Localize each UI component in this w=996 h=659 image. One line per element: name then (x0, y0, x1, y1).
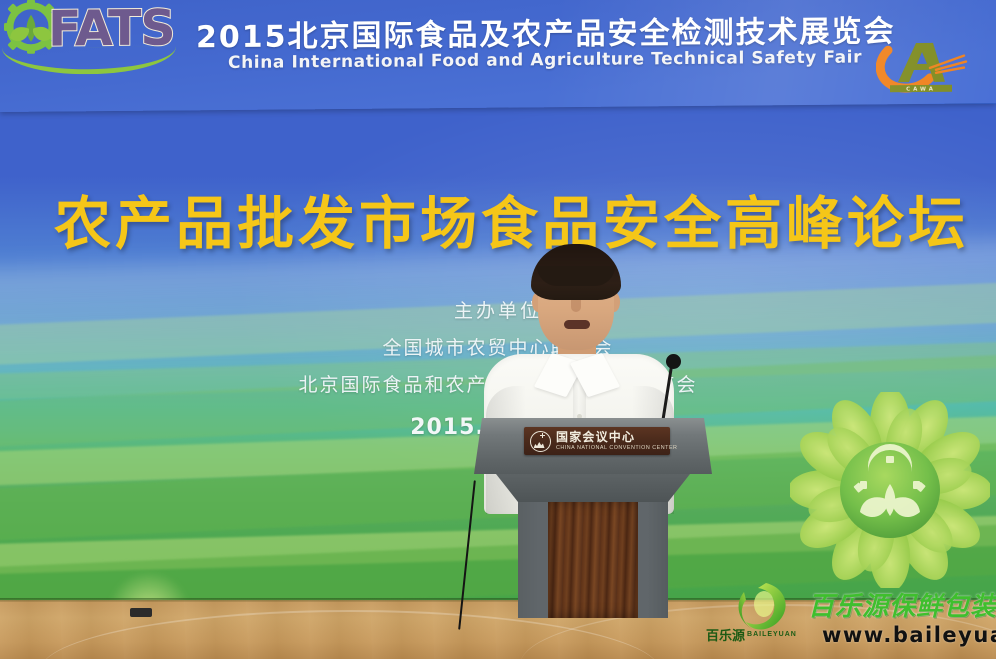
speaker-hair (531, 244, 621, 300)
header-title-cn: 2015北京国际食品及农产品安全检测技术展览会 (196, 6, 896, 56)
photo-scene: 农产品批发市场食品安全高峰论坛 主办单位 全国城市农贸中心联合会 北京国际食品和… (0, 0, 996, 659)
speaker-mouth (564, 320, 590, 329)
podium-neck (496, 474, 690, 502)
gear-leaf-icon (2, 0, 60, 58)
header-title-en: China International Food and Agriculture… (228, 47, 862, 73)
svg-text:CAWA: CAWA (906, 86, 936, 92)
watermark-url: www.baileyuan.cn (822, 623, 996, 647)
cawa-logo: CAWA (876, 33, 982, 100)
fats-logo-text: FATS (48, 0, 175, 57)
watermark-brand-cn: 百乐源保鲜包装 (808, 586, 996, 623)
podium: 国家会议中心 CHINA NATIONAL CONVENTION CENTER (474, 418, 712, 618)
fats-logo-swoosh (2, 46, 176, 75)
podium-sign: 国家会议中心 CHINA NATIONAL CONVENTION CENTER (524, 427, 670, 455)
fats-logo: FATS (2, 0, 178, 74)
watermark-badge-cn: 百乐源 (706, 625, 745, 644)
podium-sign-en: CHINA NATIONAL CONVENTION CENTER (556, 444, 677, 452)
podium-body (518, 500, 668, 618)
event-header-banner: FATS 2015北京国际食品及农产品安全检测技术展览会 China Inter… (0, 0, 996, 112)
microphone-head (666, 354, 681, 369)
image-watermark: 百乐源保鲜包装 百乐源 BAILEYUAN www.baileyuan.cn (700, 578, 996, 658)
podium-wood-panel (548, 500, 638, 618)
floor-object (130, 608, 152, 617)
cncc-mountain-star-icon (530, 431, 551, 452)
podium-sign-cn: 国家会议中心 (556, 431, 677, 444)
watermark-badge: 百乐源 BAILEYUAN (706, 625, 797, 644)
watermark-badge-en: BAILEYUAN (747, 631, 797, 638)
